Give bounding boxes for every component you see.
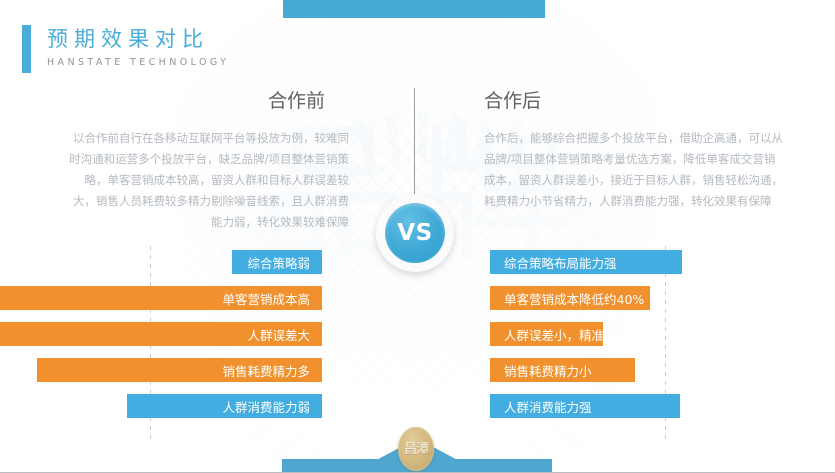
bar-item: 人群误差小，精准 <box>490 322 603 346</box>
vs-badge: VS <box>376 194 454 272</box>
bar-label: 人群消费能力强 <box>504 397 592 416</box>
bar-item: 销售耗费精力多 <box>37 358 322 382</box>
column-heading-before: 合作前 <box>268 86 325 113</box>
paragraph-before: 以合作前自行在各移动互联网平台等投放为例，较难同时沟通和运营多个投放平台，缺乏品… <box>62 128 349 233</box>
vs-badge-label: VS <box>397 222 432 245</box>
bar-item: 人群消费能力强 <box>490 394 680 418</box>
bar-item: 人群消费能力弱 <box>127 394 322 418</box>
column-heading-after: 合作后 <box>484 86 541 113</box>
bar-label: 销售耗费精力多 <box>222 361 310 380</box>
top-accent-bar <box>283 0 545 18</box>
bar-item: 单客营销成本降低约40% <box>490 286 650 310</box>
title-text-group: 预期效果对比 HANSTATE TECHNOLOGY <box>47 25 229 68</box>
bar-item: 综合策略布局能力强 <box>490 250 682 274</box>
footer-logo-text: 昌潭 <box>404 443 428 456</box>
bar-label: 综合策略弱 <box>247 253 310 272</box>
bar-label: 销售耗费精力小 <box>504 361 592 380</box>
vs-badge-core: VS <box>385 203 445 263</box>
page-title: 预期效果对比 HANSTATE TECHNOLOGY <box>22 25 229 73</box>
paragraph-after: 合作后，能够综合把握多个投放平台，借助企高通，可以从品牌/项目整体营销策略考量优… <box>484 128 784 212</box>
bar-label: 单客营销成本降低约40% <box>504 289 644 308</box>
title-chinese: 预期效果对比 <box>47 26 229 52</box>
bar-item: 综合策略弱 <box>232 250 322 274</box>
bar-item: 单客营销成本高 <box>0 286 322 310</box>
center-divider-line <box>414 88 415 210</box>
bar-label: 人群误差大 <box>247 325 310 344</box>
bar-item: 人群误差大 <box>0 322 322 346</box>
title-accent-bar <box>22 25 31 73</box>
bar-item: 销售耗费精力小 <box>490 358 635 382</box>
bar-label: 综合策略布局能力强 <box>504 253 617 272</box>
bar-label: 人群误差小，精准 <box>504 325 604 344</box>
title-english: HANSTATE TECHNOLOGY <box>47 57 229 68</box>
bar-list-before: 综合策略弱单客营销成本高人群误差大销售耗费精力多人群消费能力弱 <box>0 250 322 430</box>
bar-label: 人群消费能力弱 <box>222 397 310 416</box>
footer-logo-badge: 昌潭 <box>398 427 434 471</box>
bar-label: 单客营销成本高 <box>222 289 310 308</box>
bar-list-after: 综合策略布局能力强单客营销成本降低约40%人群误差小，精准销售耗费精力小人群消费… <box>490 250 820 430</box>
slide-canvas: 品牌 预期效果对比 HANSTATE TECHNOLOGY 合作前 合作后 以合… <box>0 0 835 473</box>
